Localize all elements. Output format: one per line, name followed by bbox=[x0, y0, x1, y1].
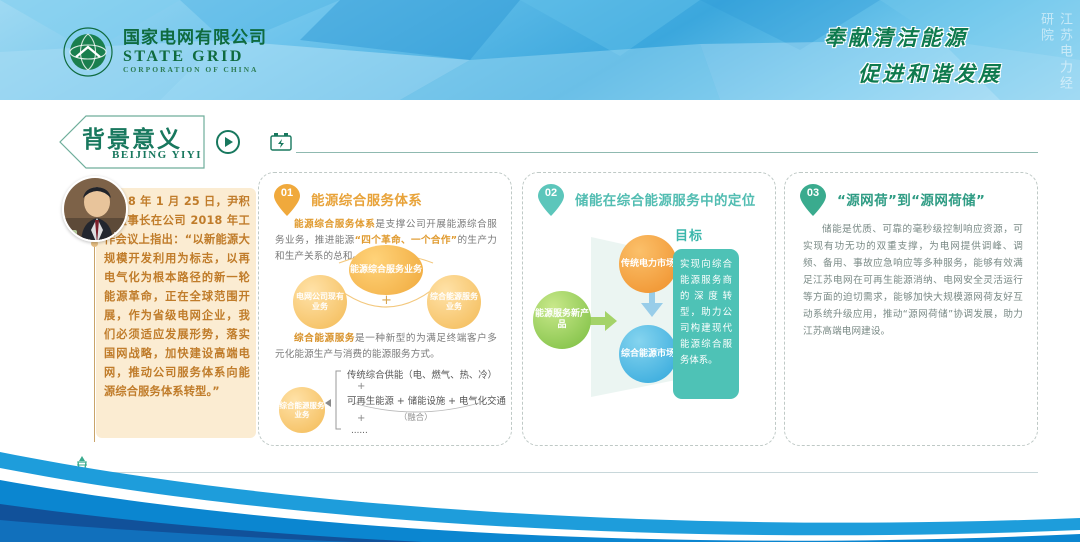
quote-text: 2018 年 1 月 25 日，尹积军董事长在公司 2018 年工作会议上指出：… bbox=[104, 192, 250, 401]
formula-block-01: 综合能源服务业务 传统综合供能（电、燃气、热、冷） + 可再生能源 + 储能设施… bbox=[279, 369, 495, 431]
state-grid-logo: 国家电网有限公司 STATE GRID CORPORATION OF CHINA bbox=[62, 26, 267, 78]
para1-lead: 能源综合服务体系 bbox=[294, 219, 375, 230]
formula-line-1: 传统综合供能（电、燃气、热、冷） bbox=[347, 367, 497, 381]
card-source-grid-load-storage: 03 “源网荷”到“源网荷储” 储能是优质、可靠的毫秒级控制响应资源，可实现有功… bbox=[784, 172, 1038, 446]
card-03-body: 储能是优质、可靠的毫秒级控制响应资源，可实现有功无功的双重支撑，为电网提供调峰、… bbox=[803, 221, 1023, 340]
venn-bubble-right: 综合能源服务业务 bbox=[427, 275, 481, 329]
logo-english-sub: CORPORATION OF CHINA bbox=[123, 66, 267, 74]
venn-bubble-top: 能源综合服务业务 bbox=[349, 245, 423, 295]
battery-icon bbox=[268, 130, 294, 154]
card-number-03: 03 bbox=[799, 187, 827, 199]
formula-op-1: + bbox=[357, 381, 365, 392]
formula-line-2: 可再生能源 + 储能设施 + 电气化交通 bbox=[347, 393, 506, 407]
slogan-line-1: 奉献清洁能源 bbox=[824, 22, 1002, 52]
state-grid-logo-text: 国家电网有限公司 STATE GRID CORPORATION OF CHINA bbox=[123, 30, 267, 74]
quote-card: 2018 年 1 月 25 日，尹积军董事长在公司 2018 年工作会议上指出：… bbox=[56, 172, 256, 446]
flow-node-traditional-market: 传统电力市场 bbox=[619, 235, 677, 293]
card-pin-01: 01 bbox=[273, 183, 301, 217]
page-title-en: BEIJING YIYI bbox=[112, 149, 202, 161]
card-number-02: 02 bbox=[537, 187, 565, 199]
venn-bubble-left: 电网公司现有业务 bbox=[293, 275, 347, 329]
card-energy-service-system: 01 能源综合服务体系 能源综合服务体系是支撑公司开展能源综合服务业务，推进能源… bbox=[258, 172, 512, 446]
card-number-01: 01 bbox=[273, 187, 301, 199]
logo-chinese-name: 国家电网有限公司 bbox=[123, 30, 267, 47]
header-slogan: 奉献清洁能源 促进和谐发展 bbox=[824, 22, 1002, 88]
header-watermark: 江苏电力经研院 bbox=[1036, 12, 1074, 100]
section-title-block: 背景意义 BEIJING YIYI bbox=[56, 114, 294, 170]
para2-lead: 综合能源服务 bbox=[294, 333, 355, 344]
card-storage-positioning: 02 储能在综合能源服务中的定位 目标 能源服务新产品 传统电力市场 综合能源市… bbox=[522, 172, 776, 446]
quote-stem-line bbox=[94, 244, 95, 442]
formula-note: （融合） bbox=[399, 411, 433, 423]
play-circle-icon[interactable] bbox=[216, 130, 240, 154]
formula-op-2: + bbox=[357, 413, 365, 424]
target-box: 实现向综合能源服务商的深度转型，助力公司构建现代能源综合服务体系。 bbox=[673, 249, 739, 399]
title-diamond-frame: 背景意义 BEIJING YIYI bbox=[56, 114, 208, 170]
card-01-paragraph-2: 综合能源服务是一种新型的为满足终端客户多元化能源生产与消费的能源服务方式。 bbox=[275, 331, 497, 363]
card-pin-03: 03 bbox=[799, 183, 827, 217]
card-title-01: 能源综合服务体系 bbox=[311, 189, 422, 209]
card-title-02: 储能在综合能源服务中的定位 bbox=[575, 189, 756, 209]
venn-plus-operator: + bbox=[381, 293, 392, 308]
avatar bbox=[62, 176, 128, 242]
footer-waves bbox=[0, 434, 1080, 542]
slogan-line-2: 促进和谐发展 bbox=[824, 58, 1002, 88]
flow-node-source: 能源服务新产品 bbox=[533, 291, 591, 349]
flow-node-integrated-market: 综合能源市场 bbox=[619, 325, 677, 383]
card-pin-02: 02 bbox=[537, 183, 565, 217]
para1-bold2: “四个革命、一个合作” bbox=[355, 235, 458, 246]
logo-english-name: STATE GRID bbox=[123, 49, 267, 65]
venn-diagram-01: 能源综合服务业务 电网公司现有业务 综合能源服务业务 + bbox=[277, 251, 495, 329]
page-header: 国家电网有限公司 STATE GRID CORPORATION OF CHINA… bbox=[0, 0, 1080, 100]
card-title-03: “源网荷”到“源网荷储” bbox=[837, 189, 985, 209]
state-grid-globe-icon bbox=[62, 26, 114, 78]
title-divider bbox=[296, 152, 1038, 153]
slide-page: 国家电网有限公司 STATE GRID CORPORATION OF CHINA… bbox=[0, 0, 1080, 542]
